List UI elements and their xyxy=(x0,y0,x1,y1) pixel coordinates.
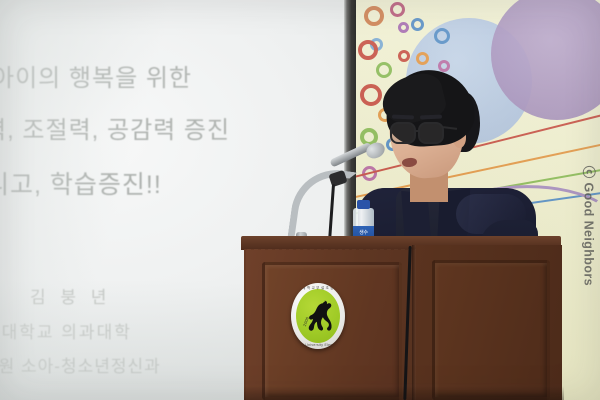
banner-ring xyxy=(411,18,424,31)
slide-line-affiliation: 울대학교 의과대학 xyxy=(0,318,132,343)
crest-ring-text-bottom: Seoul National University Elementary Sch… xyxy=(291,343,345,347)
banner-ring xyxy=(416,52,429,65)
slide-line-department: 병원 소아-청소년정신과 xyxy=(0,352,161,377)
podium-panel-right xyxy=(432,260,550,400)
crest-ring-text-top: 서 울 대 학 교 부 설 초 등 학 교 xyxy=(293,285,343,290)
banner-ring xyxy=(364,6,384,26)
banner-ring xyxy=(358,40,378,60)
banner-ring xyxy=(398,22,409,33)
glasses-lens-left xyxy=(390,122,416,144)
rearing-horse-icon xyxy=(306,299,332,333)
glasses-bridge xyxy=(415,130,420,132)
podium-corner-seam xyxy=(412,245,416,400)
slide-line-3: 리고, 학습증진!! xyxy=(0,165,162,201)
copyright-watermark: ⓒ Good Neighbors xyxy=(580,166,599,286)
banner-ring xyxy=(390,2,405,17)
bottle-label-text: 생수 xyxy=(354,229,373,236)
bottle-cap xyxy=(357,200,370,209)
banner-ring xyxy=(434,28,450,44)
slide-line-presenter-name: 김 붕 년 xyxy=(30,283,111,308)
glasses-lens-right xyxy=(418,122,444,144)
podium-floor-shadow xyxy=(244,386,564,400)
photo-scene: 아이의 행복을 위한 력, 조절력, 공감력 증진 리고, 학습증진!! 김 붕… xyxy=(0,0,600,400)
eyebrow-left xyxy=(392,115,414,119)
school-crest-emblem: 서 울 대 학 교 부 설 초 등 학 교 Seoul National Uni… xyxy=(291,283,345,349)
slide-line-2: 력, 조절력, 공감력 증진 xyxy=(0,110,230,145)
banner-ring xyxy=(398,50,410,62)
slide-line-1: 아이의 행복을 위한 xyxy=(0,58,192,93)
